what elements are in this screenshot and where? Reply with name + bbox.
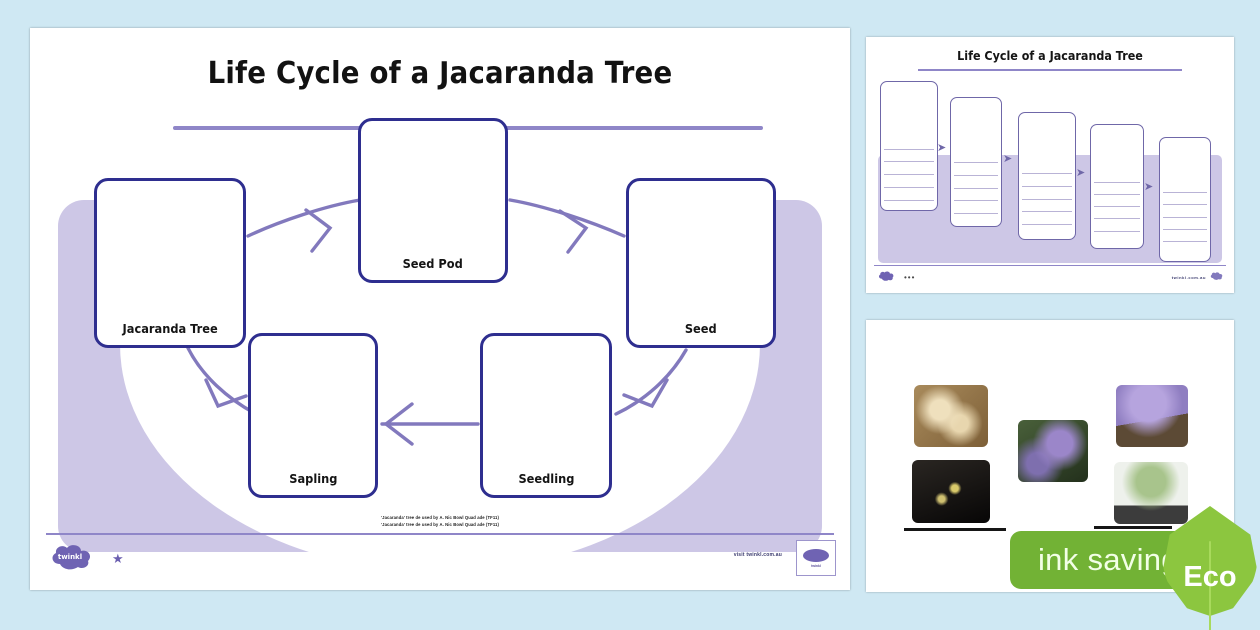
stage-label-seed: Seed <box>685 322 717 336</box>
stage-box-seed[interactable]: Seed <box>626 178 776 348</box>
thumbnail-footer-website: twinkl.com.au <box>1172 275 1206 280</box>
stage-box-jacaranda-tree[interactable]: Jacaranda Tree <box>94 178 246 348</box>
photo-caption-line-right <box>1094 526 1172 529</box>
thumbnail-lined-worksheet[interactable]: Life Cycle of a Jacaranda Tree <box>866 37 1234 293</box>
photo-caption-line-left <box>904 528 1006 531</box>
thumbnail-footer-dots: ••• <box>904 274 915 282</box>
footer-brand-badge: twinkl <box>796 540 836 576</box>
svg-text:twinkl: twinkl <box>58 553 82 561</box>
footer-divider <box>46 533 834 535</box>
footer-website-text[interactable]: visit twinkl.com.au <box>734 552 782 558</box>
arrow-seedpod-to-seed <box>510 200 624 236</box>
photo-seed-pod <box>914 385 988 447</box>
badge-cloud-icon <box>803 549 829 562</box>
thumbnail-box-3[interactable] <box>1018 112 1076 240</box>
thumbnail-footer-badge-icon <box>1210 270 1226 282</box>
stage-label-seed-pod: Seed Pod <box>403 257 463 271</box>
thumbnail-footer-divider <box>874 265 1226 266</box>
attribution-line-2: 'Jacaranda' tree de used by A. Nic Bowl … <box>30 522 850 529</box>
thumbnail-box-4[interactable] <box>1090 124 1144 249</box>
thumbnail-box-1[interactable] <box>880 81 938 211</box>
arrow-tree-to-seedpod <box>248 200 360 236</box>
thumbnail-title-underline <box>918 69 1182 71</box>
screenshot-stage: Life Cycle of a Jacaranda Tree <box>0 0 1260 630</box>
stage-box-seed-pod[interactable]: Seed Pod <box>358 118 508 283</box>
thumbnail-box-2[interactable] <box>950 97 1002 227</box>
photo-jacaranda-flowers <box>1018 420 1088 482</box>
stage-label-sapling: Sapling <box>289 472 337 486</box>
eco-leaf-label: Eco <box>1162 561 1258 594</box>
photo-jacaranda-tree <box>1116 385 1188 447</box>
stage-box-seedling[interactable]: Seedling <box>480 333 612 498</box>
thumbnail-arrow-4: ➤ <box>1144 182 1153 193</box>
stage-label-seedling: Seedling <box>518 472 574 486</box>
main-worksheet-page[interactable]: Life Cycle of a Jacaranda Tree <box>30 28 850 590</box>
thumbnail-arrow-2: ➤ <box>1003 154 1012 165</box>
eco-pill-label: ink saving <box>1038 542 1179 578</box>
twinkl-logo-icon: twinkl <box>50 544 102 570</box>
photo-seedling <box>1114 462 1188 524</box>
thumbnail-twinkl-logo-icon <box>878 271 898 281</box>
stage-label-jacaranda-tree: Jacaranda Tree <box>122 322 217 336</box>
thumbnail-title: Life Cycle of a Jacaranda Tree <box>879 49 1221 63</box>
stage-box-sapling[interactable]: Sapling <box>248 333 378 498</box>
thumbnail-box-5[interactable] <box>1159 137 1211 262</box>
star-icon: ★ <box>112 552 124 565</box>
thumbnail-arrow-3: ➤ <box>1076 168 1085 179</box>
thumbnail-arrow-1: ➤ <box>937 143 946 154</box>
photo-seeds-in-soil <box>912 460 990 523</box>
attribution-text: 'Jacaranda' tree de used by A. Nic Bowl … <box>30 515 850 528</box>
badge-caption: twinkl <box>811 564 821 568</box>
